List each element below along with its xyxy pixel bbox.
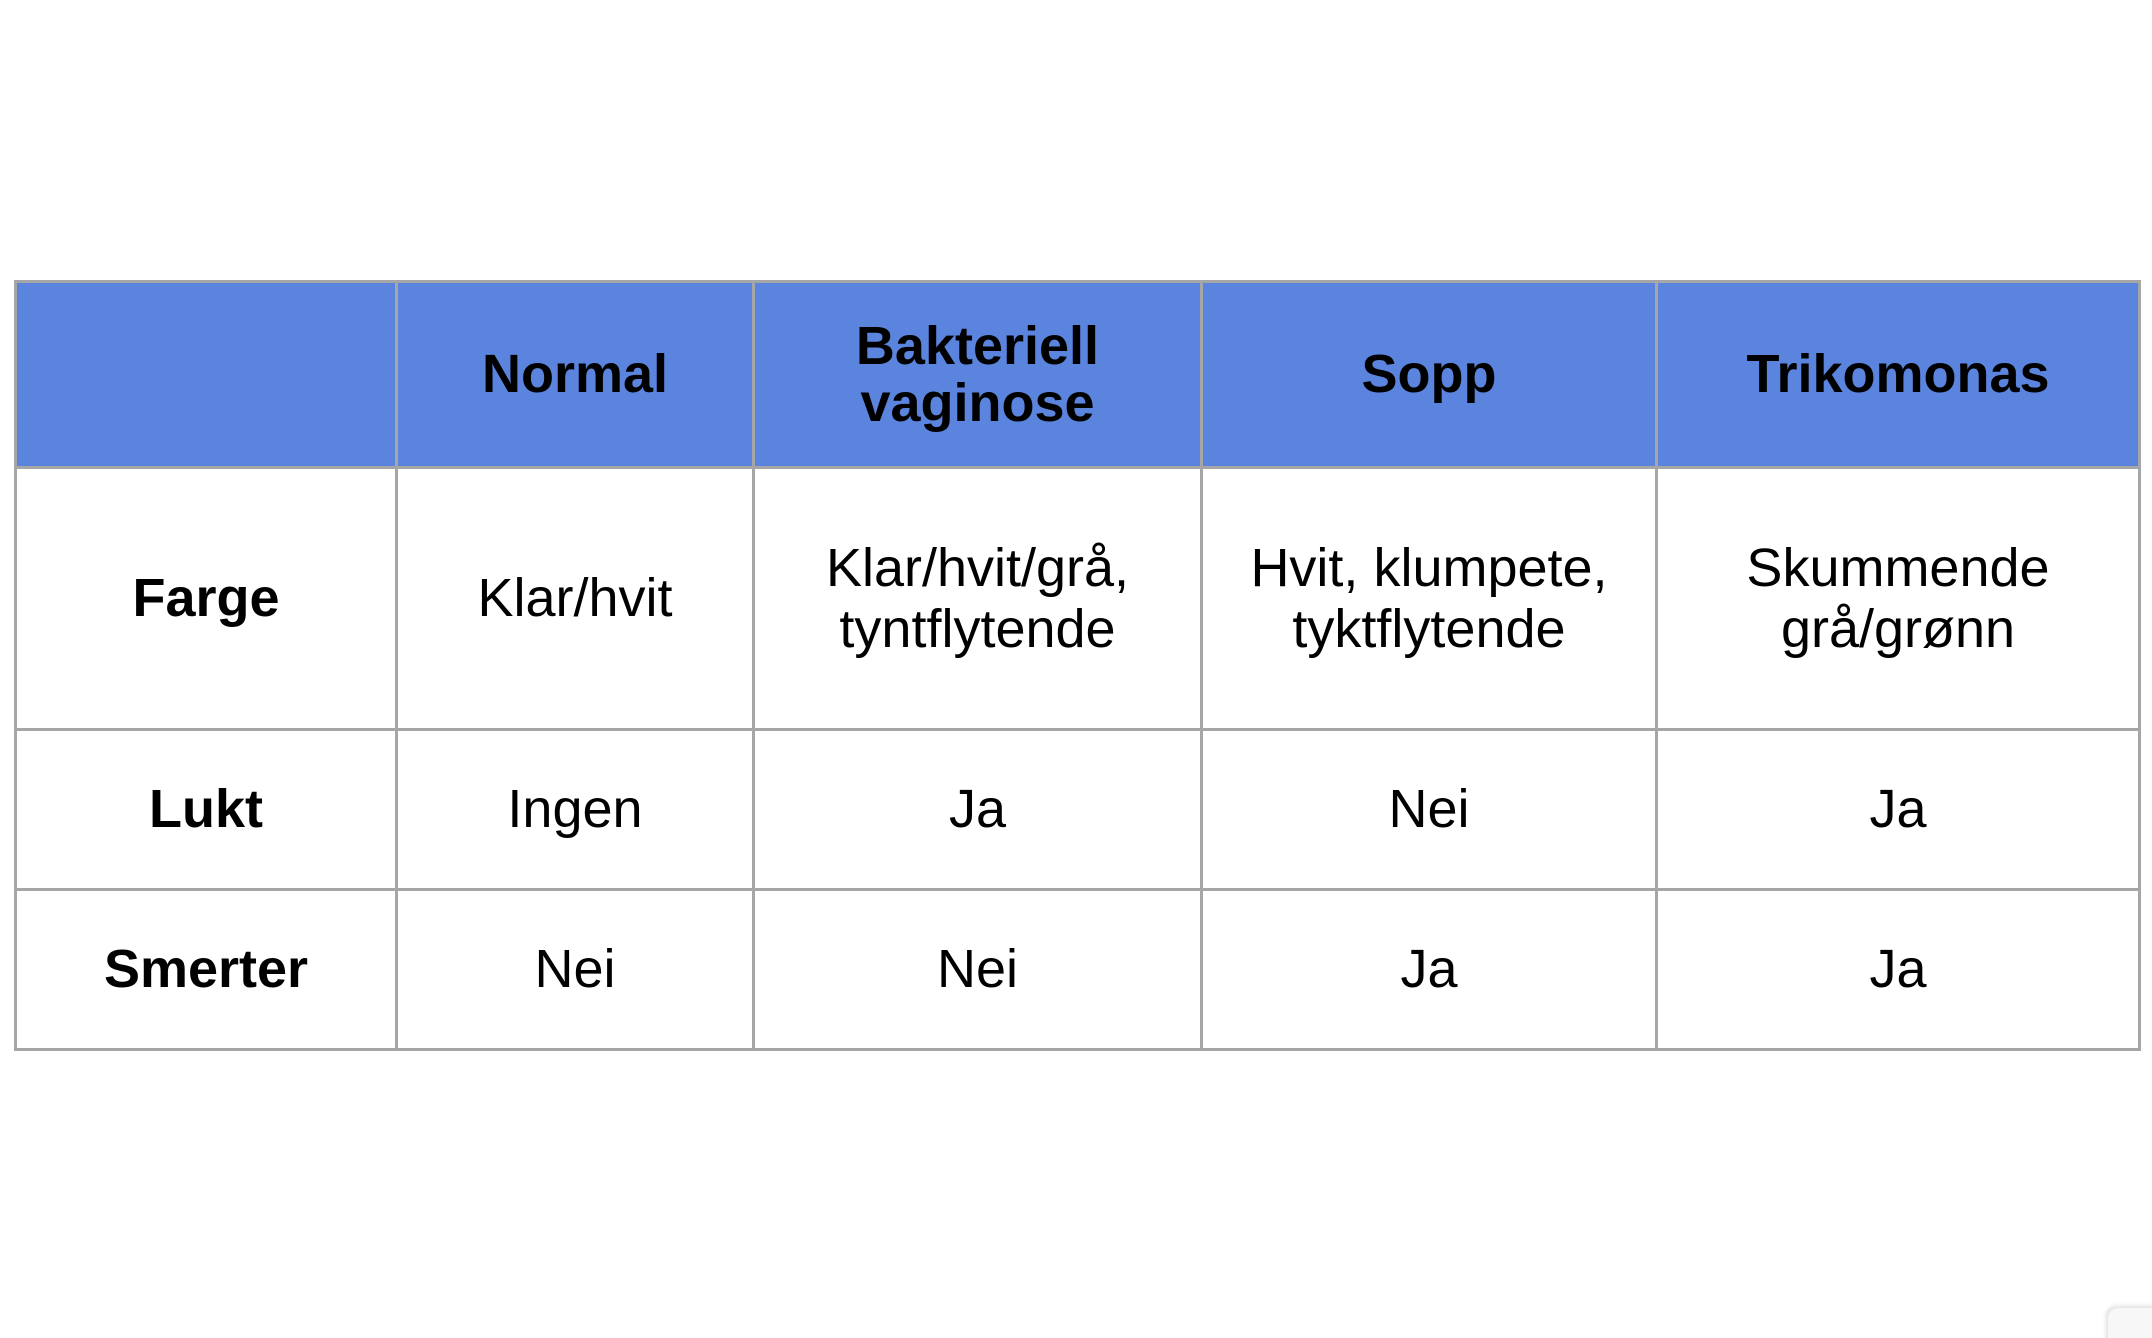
table-corner-cell (16, 282, 397, 468)
cell-lukt-sopp: Nei (1202, 730, 1657, 890)
cell-lukt-bakteriell-vaginose: Ja (754, 730, 1202, 890)
row-header-farge: Farge (16, 468, 397, 730)
corner-panel-surface (2108, 1308, 2152, 1338)
cell-smerter-sopp: Ja (1202, 890, 1657, 1050)
cell-farge-sopp: Hvit, klumpete, tyktflytende (1202, 468, 1657, 730)
row-header-lukt: Lukt (16, 730, 397, 890)
cell-lukt-normal: Ingen (397, 730, 754, 890)
cell-farge-bakteriell-vaginose: Klar/hvit/grå, tyntflytende (754, 468, 1202, 730)
comparison-table: Normal Bakteriell vaginose Sopp Trikomon… (14, 280, 2141, 1051)
column-header-sopp: Sopp (1202, 282, 1657, 468)
table-row: Farge Klar/hvit Klar/hvit/grå, tyntflyte… (16, 468, 2140, 730)
column-header-bakteriell-vaginose: Bakteriell vaginose (754, 282, 1202, 468)
table-row: Lukt Ingen Ja Nei Ja (16, 730, 2140, 890)
column-header-trikomonas: Trikomonas (1657, 282, 2140, 468)
cell-farge-normal: Klar/hvit (397, 468, 754, 730)
cell-smerter-normal: Nei (397, 890, 754, 1050)
header-row: Normal Bakteriell vaginose Sopp Trikomon… (16, 282, 2140, 468)
table-header: Normal Bakteriell vaginose Sopp Trikomon… (16, 282, 2140, 468)
column-header-normal: Normal (397, 282, 754, 468)
cell-smerter-bakteriell-vaginose: Nei (754, 890, 1202, 1050)
cell-lukt-trikomonas: Ja (1657, 730, 2140, 890)
slide-canvas: Normal Bakteriell vaginose Sopp Trikomon… (0, 0, 2152, 1338)
row-header-smerter: Smerter (16, 890, 397, 1050)
clipped-corner-panel[interactable] (2100, 1300, 2152, 1338)
cell-farge-trikomonas: Skummende grå/grønn (1657, 468, 2140, 730)
cell-smerter-trikomonas: Ja (1657, 890, 2140, 1050)
table-row: Smerter Nei Nei Ja Ja (16, 890, 2140, 1050)
table-body: Farge Klar/hvit Klar/hvit/grå, tyntflyte… (16, 468, 2140, 1050)
